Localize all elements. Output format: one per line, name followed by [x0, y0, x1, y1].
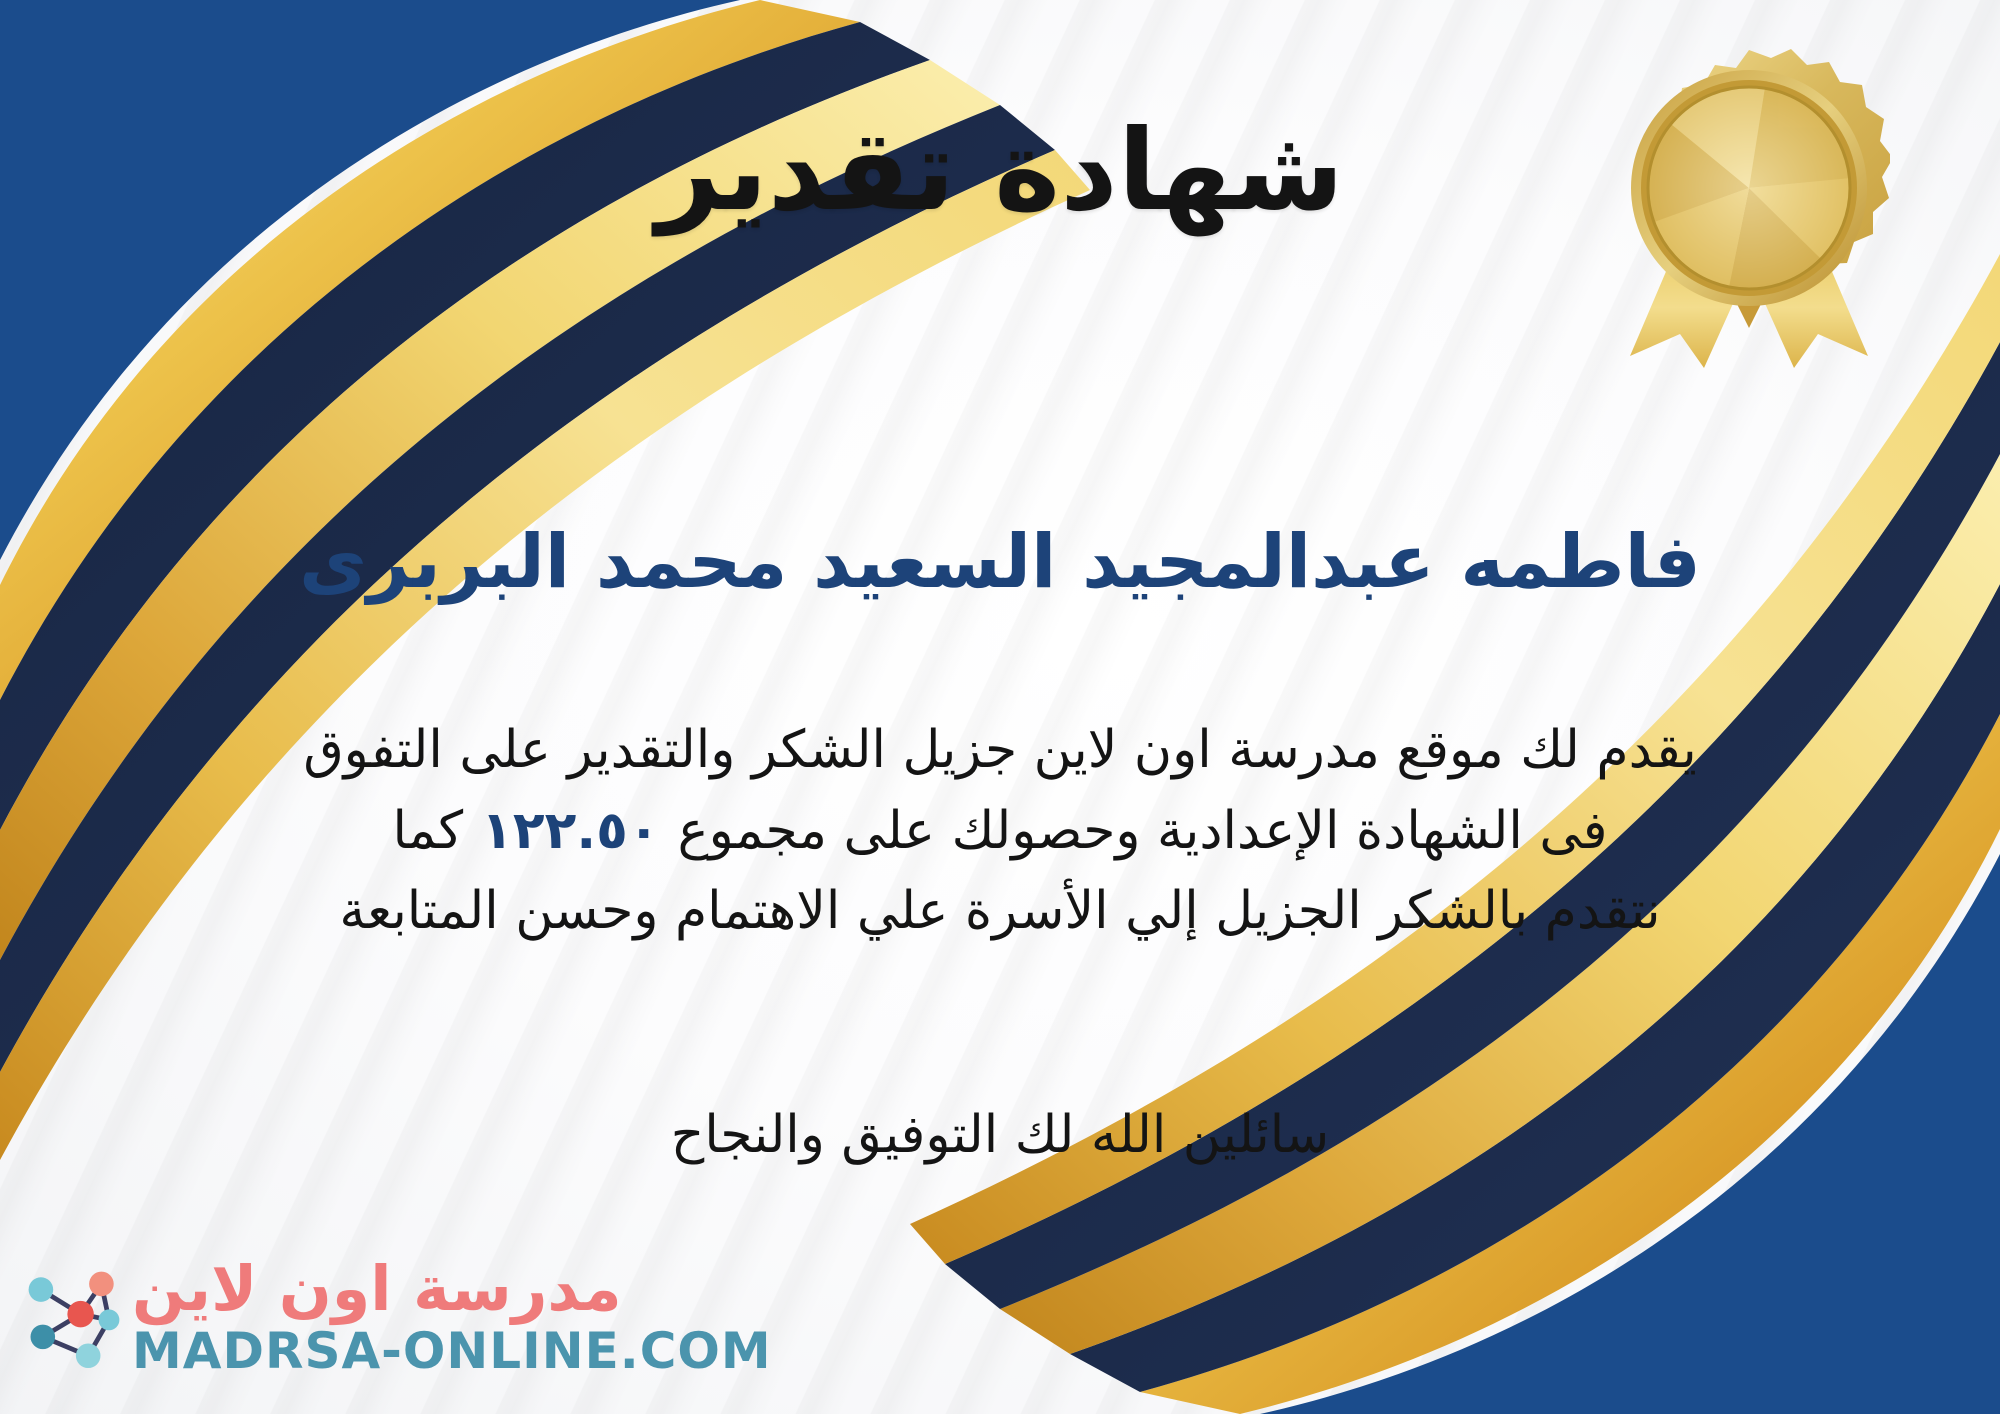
- brand-logo[interactable]: مدرسة اون لاين MADRSA-ONLINE.COM: [22, 1258, 772, 1376]
- recipient-name: فاطمه عبدالمجيد السعيد محمد البربرى: [60, 520, 1940, 605]
- body-line-2-prefix: فى الشهادة الإعدادية وحصولك على مجموع: [678, 801, 1608, 861]
- grade-total-value: ١٢٢.٥٠: [463, 801, 677, 861]
- gold-award-medal-icon: [1608, 38, 1890, 368]
- body-line-3: نتقدم بالشكر الجزيل إلي الأسرة علي الاهت…: [70, 871, 1930, 952]
- body-line-1: يقدم لك موقع مدرسة اون لاين جزيل الشكر و…: [70, 710, 1930, 791]
- certificate-body: يقدم لك موقع مدرسة اون لاين جزيل الشكر و…: [70, 710, 1930, 952]
- network-graph-icon: [22, 1265, 126, 1369]
- brand-text-block: مدرسة اون لاين MADRSA-ONLINE.COM: [132, 1258, 772, 1376]
- brand-website-url[interactable]: MADRSA-ONLINE.COM: [132, 1326, 772, 1376]
- body-line-2: فى الشهادة الإعدادية وحصولك على مجموع١٢٢…: [70, 791, 1930, 872]
- certificate-canvas: شهادة تقدير فاطمه عبدالمجيد السعيد محمد …: [0, 0, 2000, 1414]
- closing-wish: سائلين الله لك التوفيق والنجاح: [0, 1105, 2000, 1165]
- body-line-2-suffix: كما: [392, 801, 463, 861]
- brand-name-arabic: مدرسة اون لاين: [132, 1258, 622, 1320]
